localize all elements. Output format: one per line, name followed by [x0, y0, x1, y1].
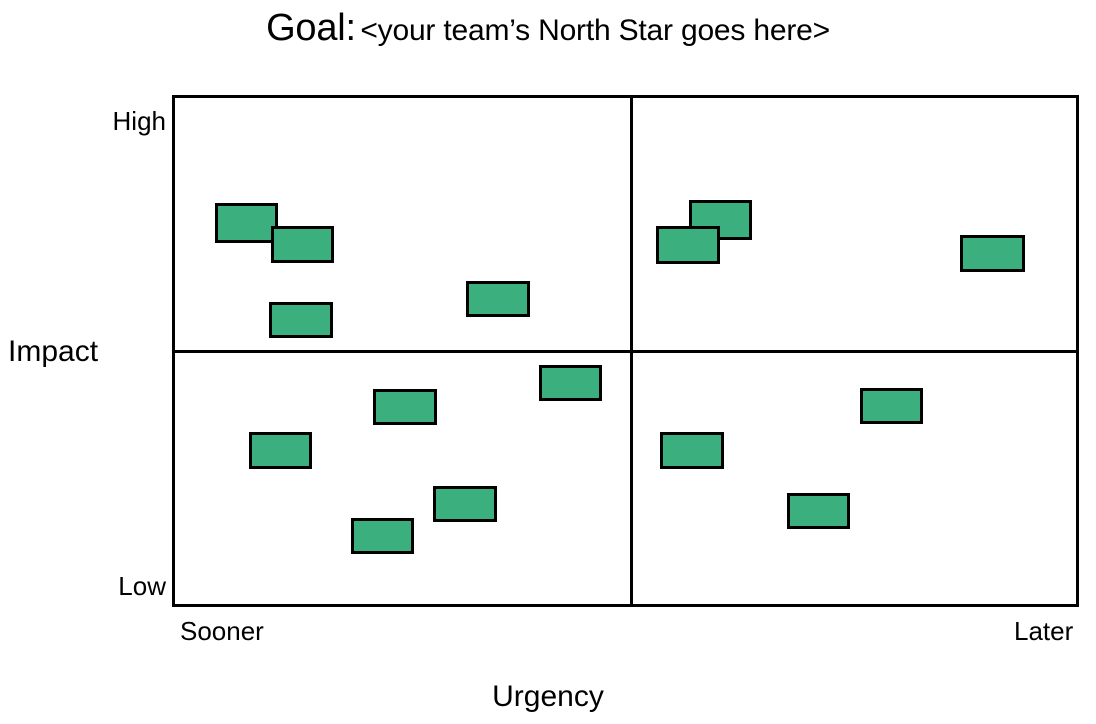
x-axis-tick-later: Later [1014, 618, 1073, 644]
sticky-note[interactable] [656, 226, 720, 264]
x-axis-label: Urgency [0, 682, 1096, 712]
title-goal-label: Goal: [266, 7, 356, 49]
sticky-note[interactable] [351, 518, 414, 554]
x-axis-tick-sooner: Sooner [180, 618, 264, 644]
sticky-note[interactable] [271, 226, 334, 263]
sticky-note[interactable] [539, 365, 602, 401]
sticky-note[interactable] [466, 281, 530, 317]
sticky-note[interactable] [960, 235, 1025, 272]
y-axis-label: Impact [8, 337, 98, 367]
sticky-note[interactable] [249, 432, 312, 469]
sticky-note[interactable] [433, 486, 497, 522]
prioritization-matrix [172, 95, 1079, 607]
sticky-note[interactable] [660, 432, 724, 469]
sticky-note[interactable] [269, 302, 333, 338]
sticky-note[interactable] [787, 493, 850, 529]
quadrant-divider-horizontal [175, 350, 1076, 353]
y-axis-tick-low: Low [118, 573, 166, 599]
page-title: Goal: <your team’s North Star goes here> [0, 9, 1096, 47]
title-placeholder-text: <your team’s North Star goes here> [360, 14, 830, 47]
y-axis-tick-high: High [113, 108, 166, 134]
sticky-note[interactable] [373, 389, 437, 425]
sticky-note[interactable] [860, 388, 923, 424]
sticky-note[interactable] [215, 203, 278, 243]
